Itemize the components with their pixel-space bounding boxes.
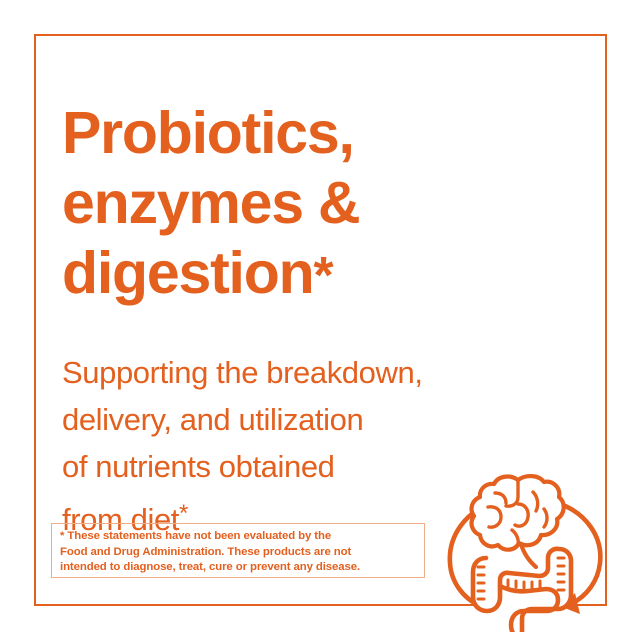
subtitle-line-1: Supporting the breakdown, — [62, 349, 512, 396]
disclaimer-line-3: intended to diagnose, treat, cure or pre… — [60, 560, 418, 576]
subtitle-line-2: delivery, and utilization — [62, 396, 512, 443]
card-border-top — [34, 34, 607, 36]
disclaimer-line-2: Food and Drug Administration. These prod… — [60, 545, 418, 561]
intestines-icon — [473, 549, 571, 632]
gut-brain-axis-icon — [440, 462, 612, 632]
headline-line-3-text: digestion — [62, 240, 313, 306]
headline-line-3: digestion* — [62, 238, 522, 311]
headline-footnote-marker: * — [313, 247, 332, 305]
disclaimer-box: * These statements have not been evaluat… — [51, 523, 425, 578]
headline-line-2: enzymes & — [62, 168, 522, 238]
disclaimer-line-1: * These statements have not been evaluat… — [60, 529, 418, 545]
card-border-left — [34, 34, 36, 606]
card-border-bottom-left — [34, 604, 477, 606]
promo-card: Probiotics, enzymes & digestion* Support… — [0, 0, 640, 640]
headline-line-1: Probiotics, — [62, 98, 522, 168]
disclaimer-text: * These statements have not been evaluat… — [60, 529, 418, 576]
page-title: Probiotics, enzymes & digestion* — [62, 98, 522, 311]
